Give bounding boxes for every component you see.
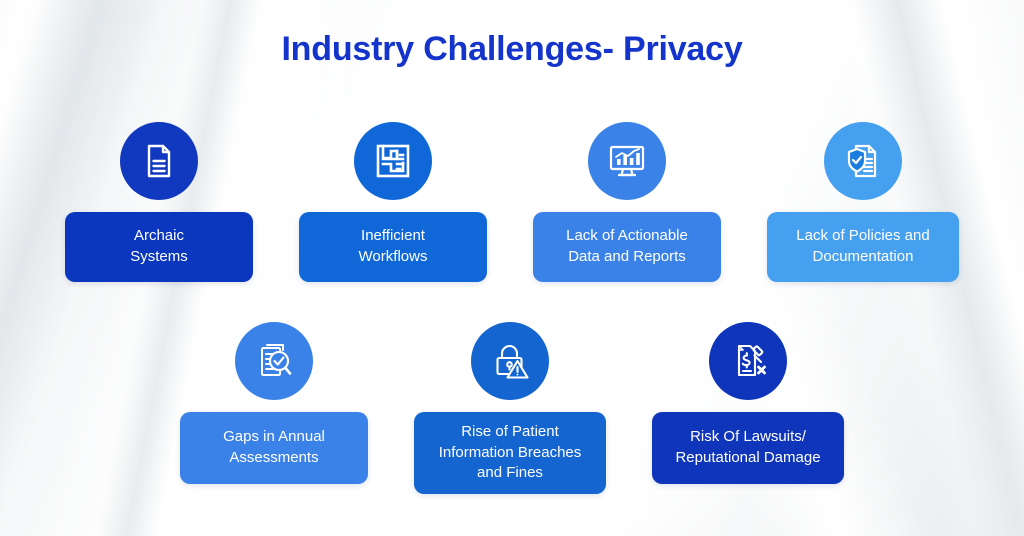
challenge-item[interactable]: Risk Of Lawsuits/ Reputational Damage — [652, 322, 844, 494]
challenge-label: Rise of Patient Information Breaches and… — [439, 422, 582, 484]
challenge-card[interactable]: Lack of Policies and Documentation — [767, 212, 959, 282]
challenge-row-bottom: Gaps in Annual Assessments — [0, 322, 1024, 494]
challenge-label: Gaps in Annual Assessments — [223, 427, 325, 468]
document-search-check-icon — [253, 340, 295, 382]
icon-badge — [235, 322, 313, 400]
gavel-invoice-x-icon — [727, 340, 769, 382]
challenge-label: Lack of Policies and Documentation — [796, 226, 929, 267]
icon-badge — [471, 322, 549, 400]
challenge-row-top: Archaic Systems — [0, 122, 1024, 282]
maze-icon — [373, 141, 413, 181]
challenge-item[interactable]: Lack of Actionable Data and Reports — [533, 122, 721, 282]
icon-badge — [354, 122, 432, 200]
challenge-label: Inefficient Workflows — [359, 226, 428, 267]
lock-warning-icon — [489, 340, 531, 382]
challenge-item[interactable]: Archaic Systems — [65, 122, 253, 282]
icon-badge — [120, 122, 198, 200]
challenge-label: Risk Of Lawsuits/ Reputational Damage — [675, 427, 820, 468]
shield-document-icon — [842, 140, 884, 182]
document-icon — [139, 141, 179, 181]
challenge-card[interactable]: Inefficient Workflows — [299, 212, 487, 282]
challenge-label: Lack of Actionable Data and Reports — [566, 226, 688, 267]
challenge-item[interactable]: Gaps in Annual Assessments — [180, 322, 368, 494]
challenge-item[interactable]: Rise of Patient Information Breaches and… — [414, 322, 606, 494]
challenge-label: Archaic Systems — [130, 226, 188, 267]
challenge-card[interactable]: Risk Of Lawsuits/ Reputational Damage — [652, 412, 844, 484]
icon-badge — [709, 322, 787, 400]
infographic-canvas: Industry Challenges- Privacy Archaic Sys… — [0, 0, 1024, 536]
page-title: Industry Challenges- Privacy — [0, 30, 1024, 69]
challenge-item[interactable]: Inefficient Workflows — [299, 122, 487, 282]
challenge-card[interactable]: Archaic Systems — [65, 212, 253, 282]
monitor-chart-icon — [606, 140, 648, 182]
challenge-card[interactable]: Lack of Actionable Data and Reports — [533, 212, 721, 282]
challenge-item[interactable]: Lack of Policies and Documentation — [767, 122, 959, 282]
challenge-card[interactable]: Rise of Patient Information Breaches and… — [414, 412, 606, 494]
icon-badge — [824, 122, 902, 200]
challenge-card[interactable]: Gaps in Annual Assessments — [180, 412, 368, 484]
icon-badge — [588, 122, 666, 200]
